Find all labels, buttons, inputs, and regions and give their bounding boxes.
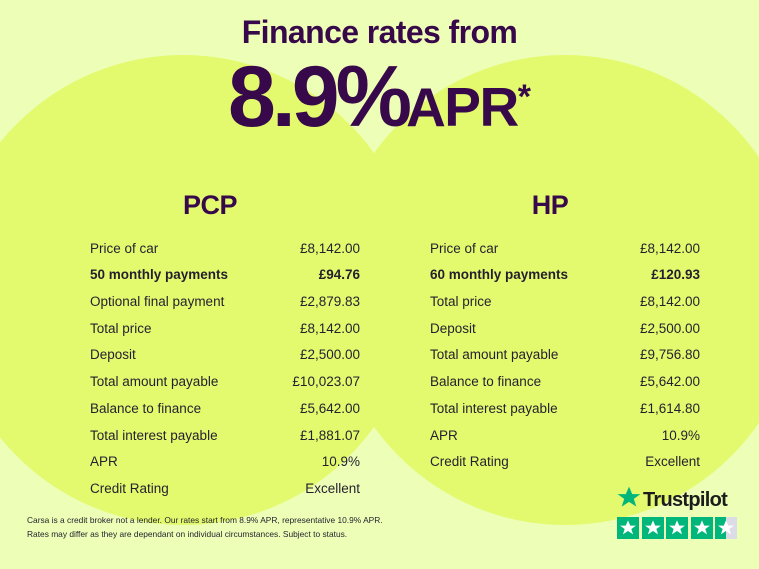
row-label: Price of car (400, 235, 621, 262)
headline-block: Finance rates from 8.9% APR * (0, 14, 759, 138)
row-label: Credit Rating (400, 449, 621, 476)
banner-content: Finance rates from 8.9% APR * PCP Price … (0, 0, 759, 569)
row-label: 60 monthly payments (400, 262, 621, 289)
table-row: Total interest payable£1,881.07 (60, 422, 360, 449)
plan-hp: HP Price of car£8,142.0060 monthly payme… (400, 190, 700, 475)
row-value: £2,879.83 (274, 288, 360, 315)
headline-rate-value: 8.9% (228, 57, 408, 139)
table-row: Total price£8,142.00 (400, 288, 700, 315)
trustpilot-rating-stars (617, 517, 739, 539)
trustpilot-name: Trustpilot (643, 490, 727, 510)
row-value: £5,642.00 (274, 395, 360, 422)
plan-hp-title: HP (400, 190, 700, 221)
row-value: 10.9% (621, 422, 700, 449)
row-value: 10.9% (274, 449, 360, 476)
disclaimer: Carsa is a credit broker not a lender. O… (27, 514, 457, 541)
row-label: Balance to finance (400, 369, 621, 396)
trustpilot-full-star-icon (691, 517, 713, 539)
row-value: £8,142.00 (621, 235, 700, 262)
row-value: £8,142.00 (274, 315, 360, 342)
plan-pcp-table-body: Price of car£8,142.0050 monthly payments… (60, 235, 360, 502)
row-label: Total amount payable (60, 369, 274, 396)
row-value: Excellent (274, 475, 360, 502)
table-row: Deposit£2,500.00 (60, 342, 360, 369)
plan-hp-table: Price of car£8,142.0060 monthly payments… (400, 235, 700, 475)
row-label: Total interest payable (60, 422, 274, 449)
table-row: Price of car£8,142.00 (400, 235, 700, 262)
row-value: £1,881.07 (274, 422, 360, 449)
table-row: Balance to finance£5,642.00 (400, 369, 700, 396)
disclaimer-line-2: Rates may differ as they are dependant o… (27, 528, 457, 542)
table-row: Balance to finance£5,642.00 (60, 395, 360, 422)
row-label: APR (400, 422, 621, 449)
table-row: Optional final payment£2,879.83 (60, 288, 360, 315)
row-label: Total interest payable (400, 395, 621, 422)
headline-rate-row: 8.9% APR * (0, 57, 759, 139)
table-row: Price of car£8,142.00 (60, 235, 360, 262)
row-value: Excellent (621, 449, 700, 476)
table-row: Deposit£2,500.00 (400, 315, 700, 342)
row-label: Total amount payable (400, 342, 621, 369)
trustpilot-widget[interactable]: Trustpilot (617, 488, 739, 539)
table-row: Total interest payable£1,614.80 (400, 395, 700, 422)
row-label: Total price (400, 288, 621, 315)
row-label: Deposit (60, 342, 274, 369)
table-row: Credit RatingExcellent (60, 475, 360, 502)
table-row: 60 monthly payments£120.93 (400, 262, 700, 289)
row-value: £8,142.00 (274, 235, 360, 262)
row-label: Deposit (400, 315, 621, 342)
disclaimer-line-1: Carsa is a credit broker not a lender. O… (27, 514, 457, 528)
row-label: Optional final payment (60, 288, 274, 315)
row-label: APR (60, 449, 274, 476)
headline-asterisk: * (518, 80, 531, 114)
table-row: Total amount payable£10,023.07 (60, 369, 360, 396)
trustpilot-star-icon (617, 486, 641, 514)
table-row: APR10.9% (60, 449, 360, 476)
row-label: Price of car (60, 235, 274, 262)
trustpilot-full-star-icon (642, 517, 664, 539)
plan-hp-table-body: Price of car£8,142.0060 monthly payments… (400, 235, 700, 475)
row-value: £8,142.00 (621, 288, 700, 315)
row-value: £10,023.07 (274, 369, 360, 396)
row-label: Balance to finance (60, 395, 274, 422)
row-value: £94.76 (274, 262, 360, 289)
table-row: Credit RatingExcellent (400, 449, 700, 476)
table-row: Total price£8,142.00 (60, 315, 360, 342)
plan-pcp: PCP Price of car£8,142.0050 monthly paym… (60, 190, 360, 502)
table-row: Total amount payable£9,756.80 (400, 342, 700, 369)
headline-apr-label: APR (406, 81, 518, 133)
row-value: £9,756.80 (621, 342, 700, 369)
row-label: 50 monthly payments (60, 262, 274, 289)
row-value: £5,642.00 (621, 369, 700, 396)
row-label: Total price (60, 315, 274, 342)
trustpilot-half-star-icon (715, 517, 737, 539)
trustpilot-wordmark: Trustpilot (617, 488, 739, 512)
plan-pcp-table: Price of car£8,142.0050 monthly payments… (60, 235, 360, 502)
finance-rates-banner: Finance rates from 8.9% APR * PCP Price … (0, 0, 759, 569)
row-label: Credit Rating (60, 475, 274, 502)
headline-top-line: Finance rates from (0, 14, 759, 51)
table-row: APR10.9% (400, 422, 700, 449)
row-value: £120.93 (621, 262, 700, 289)
row-value: £1,614.80 (621, 395, 700, 422)
row-value: £2,500.00 (274, 342, 360, 369)
plan-pcp-title: PCP (60, 190, 360, 221)
table-row: 50 monthly payments£94.76 (60, 262, 360, 289)
trustpilot-full-star-icon (617, 517, 639, 539)
row-value: £2,500.00 (621, 315, 700, 342)
trustpilot-full-star-icon (666, 517, 688, 539)
